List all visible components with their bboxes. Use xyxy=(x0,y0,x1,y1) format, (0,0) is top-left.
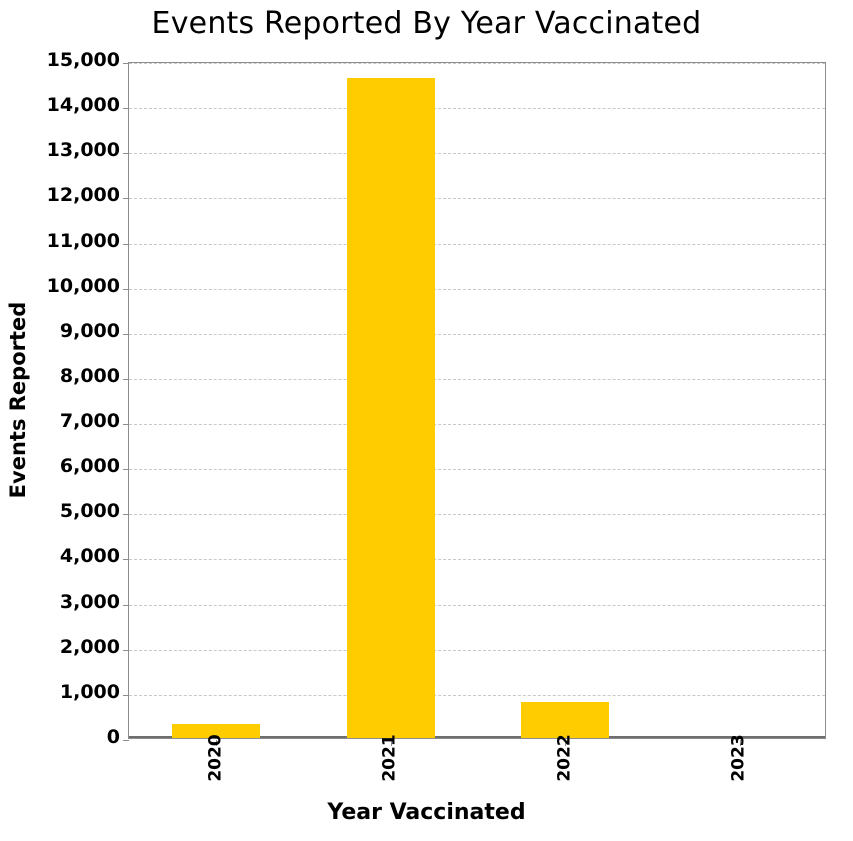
gridline xyxy=(129,514,825,515)
y-axis-tick-mark xyxy=(123,198,129,199)
gridline xyxy=(129,108,825,109)
y-axis-tick-label: 6,000 xyxy=(10,455,120,477)
y-axis-tick-label: 12,000 xyxy=(10,184,120,206)
gridline xyxy=(129,650,825,651)
gridline xyxy=(129,605,825,606)
y-axis-tick-mark xyxy=(123,244,129,245)
x-axis-tick-label-2023: 2023 xyxy=(699,748,779,768)
y-axis-tick-label: 5,000 xyxy=(10,500,120,522)
y-axis-tick-mark xyxy=(123,108,129,109)
x-axis-title: Year Vaccinated xyxy=(0,800,853,825)
y-axis-tick-label: 2,000 xyxy=(10,636,120,658)
y-axis-tick-mark xyxy=(123,650,129,651)
x-axis-tick-label-text: 2022 xyxy=(554,734,574,781)
x-axis-tick-label-text: 2023 xyxy=(729,734,749,781)
gridline xyxy=(129,695,825,696)
x-axis-tick-label-2022: 2022 xyxy=(524,748,604,768)
y-axis-tick-label: 11,000 xyxy=(10,230,120,252)
y-axis-tick-label: 0 xyxy=(10,726,120,748)
y-axis-tick-label: 3,000 xyxy=(10,591,120,613)
x-axis-tick-label-2021: 2021 xyxy=(350,748,430,768)
bar-chart: Events Reported By Year Vaccinated Event… xyxy=(0,0,853,841)
bar-2021[interactable] xyxy=(347,78,435,738)
y-axis-tick-mark xyxy=(123,153,129,154)
x-axis-tick-label-text: 2020 xyxy=(205,734,225,781)
y-axis-tick-mark xyxy=(123,740,129,741)
gridline xyxy=(129,379,825,380)
y-axis-tick-label: 1,000 xyxy=(10,681,120,703)
gridline xyxy=(129,334,825,335)
y-axis-tick-label: 9,000 xyxy=(10,320,120,342)
y-axis-tick-label: 14,000 xyxy=(10,94,120,116)
x-axis-tick-label-text: 2021 xyxy=(380,734,400,781)
y-axis-tick-mark xyxy=(123,424,129,425)
y-axis-tick-mark xyxy=(123,559,129,560)
y-axis-tick-label: 4,000 xyxy=(10,545,120,567)
gridline xyxy=(129,153,825,154)
y-axis-tick-label: 10,000 xyxy=(10,275,120,297)
plot-area xyxy=(128,62,826,739)
y-axis-tick-label: 7,000 xyxy=(10,410,120,432)
y-axis-tick-label: 15,000 xyxy=(10,49,120,71)
y-axis-tick-mark xyxy=(123,379,129,380)
gridline xyxy=(129,424,825,425)
y-axis-tick-mark xyxy=(123,63,129,64)
chart-title: Events Reported By Year Vaccinated xyxy=(0,6,853,41)
gridline xyxy=(129,198,825,199)
gridline xyxy=(129,469,825,470)
y-axis-tick-mark xyxy=(123,695,129,696)
bar-2022[interactable] xyxy=(521,702,609,738)
x-axis-tick-label-2020: 2020 xyxy=(175,748,255,768)
gridline xyxy=(129,559,825,560)
y-axis-tick-mark xyxy=(123,514,129,515)
y-axis-tick-mark xyxy=(123,469,129,470)
y-axis-tick-mark xyxy=(123,334,129,335)
y-axis-tick-mark xyxy=(123,605,129,606)
y-axis-tick-label: 13,000 xyxy=(10,139,120,161)
y-axis-tick-label: 8,000 xyxy=(10,365,120,387)
gridline xyxy=(129,244,825,245)
gridline xyxy=(129,63,825,64)
y-axis-tick-mark xyxy=(123,289,129,290)
gridline xyxy=(129,289,825,290)
